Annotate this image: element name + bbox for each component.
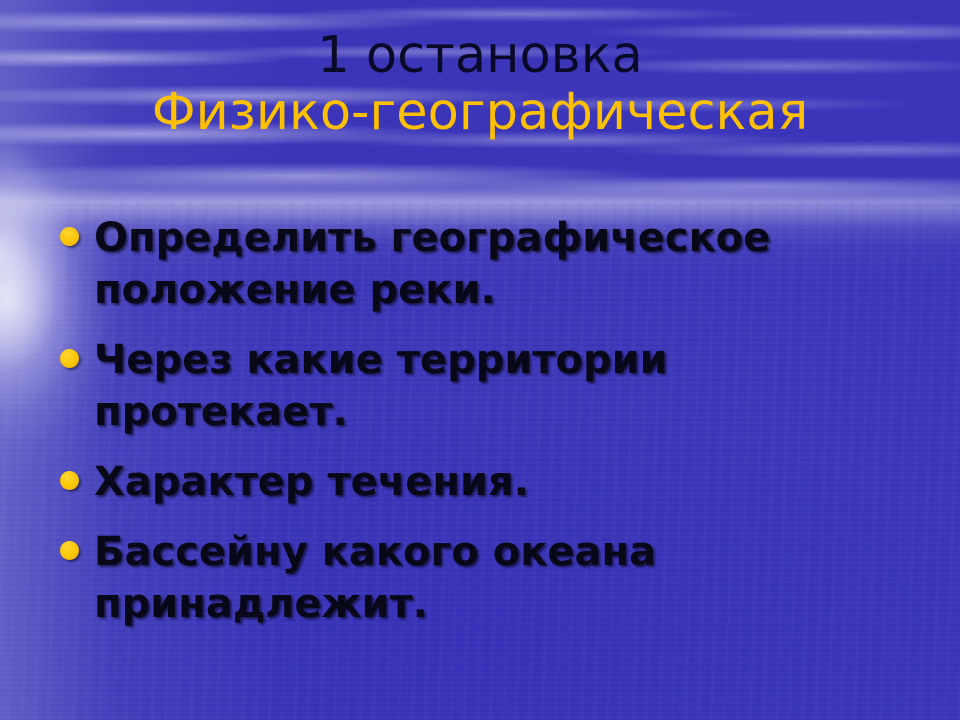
list-item: Характер течения.	[52, 456, 932, 508]
list-item-label: Через какие территории протекает.	[94, 334, 932, 438]
list-item: Определить географическое положение реки…	[52, 212, 932, 316]
bullet-dot-icon	[60, 227, 79, 246]
bullet-dot-icon	[60, 471, 79, 490]
list-item: Бассейну какого океана принадлежит.	[52, 526, 932, 630]
list-item-label: Бассейну какого океана принадлежит.	[94, 526, 932, 630]
bullet-list: Определить географическое положение реки…	[52, 212, 932, 630]
list-item-label: Определить географическое положение реки…	[94, 212, 932, 316]
list-item: Через какие территории протекает.	[52, 334, 932, 438]
slide-subtitle: Физико-географическая	[40, 84, 920, 142]
list-item-label: Характер течения.	[94, 456, 932, 508]
presentation-slide: 1 остановка Физико-географическая Опреде…	[0, 0, 960, 720]
slide-content: 1 остановка Физико-географическая Опреде…	[0, 0, 960, 720]
slide-title-block: 1 остановка Физико-географическая	[40, 28, 920, 142]
slide-title: 1 остановка	[40, 28, 920, 84]
bullet-dot-icon	[60, 541, 79, 560]
bullet-dot-icon	[60, 349, 79, 368]
